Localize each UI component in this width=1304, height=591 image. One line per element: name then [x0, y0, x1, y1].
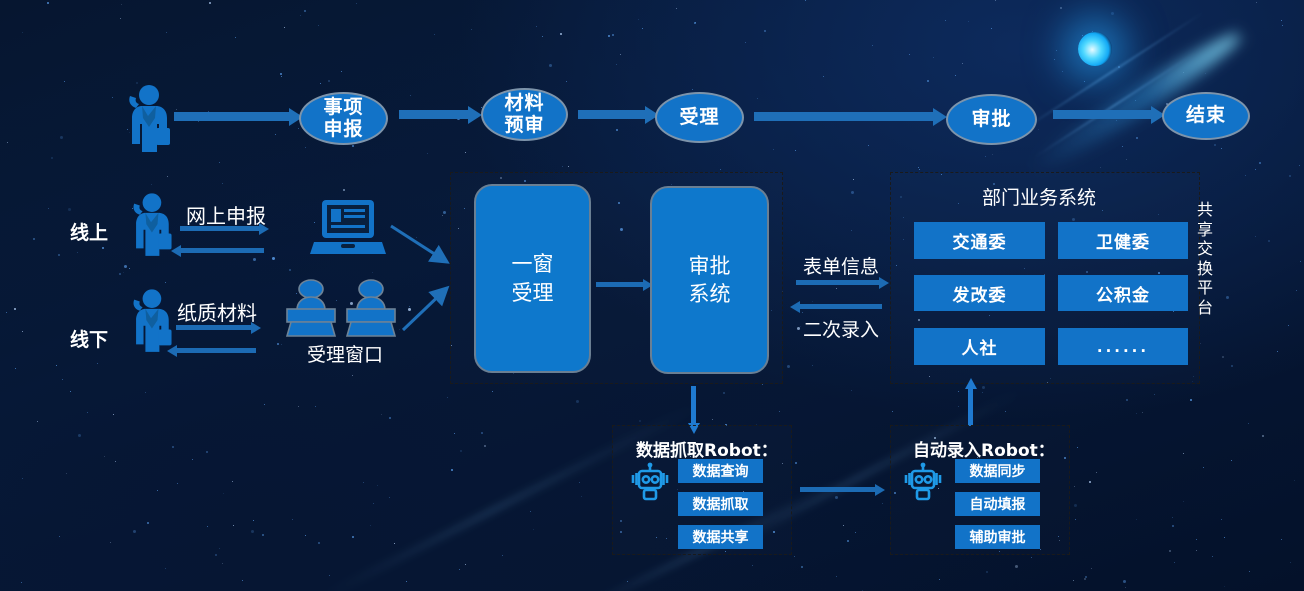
exchange-forward-arrow [796, 280, 880, 285]
exchange-backward-arrow [799, 304, 882, 309]
robot-task-assist-approval[interactable]: 辅助审批 [955, 525, 1040, 549]
shared-exchange-platform-label: 共 享 交 换 平 台 [1195, 200, 1215, 317]
robot-task-label: 自动填报 [970, 494, 1026, 514]
data-capture-robot-title: 数据抓取Robot： [636, 436, 778, 461]
department-chip-fagaiwei[interactable]: 发改委 [914, 275, 1045, 311]
department-chip-label: 公积金 [1096, 281, 1150, 306]
robot-task-auto-fill[interactable]: 自动填报 [955, 492, 1040, 516]
robot-link-arrow [800, 487, 876, 492]
department-chip-more[interactable]: ...... [1058, 328, 1188, 365]
auto-entry-robot-title: 自动录入Robot： [913, 436, 1055, 461]
robot-task-data-capture[interactable]: 数据抓取 [678, 492, 763, 516]
robot-icon [627, 462, 673, 508]
department-chip-label: 发改委 [953, 281, 1007, 306]
department-chip-label: 交通委 [953, 228, 1007, 253]
department-chip-rensh[interactable]: 人社 [914, 328, 1045, 365]
department-systems-title: 部门业务系统 [982, 183, 1096, 210]
department-chip-label: 卫健委 [1096, 228, 1150, 253]
exchange-forward-label: 表单信息 [803, 252, 879, 279]
robot-task-data-share[interactable]: 数据共享 [678, 525, 763, 549]
robot-task-label: 数据查询 [693, 461, 749, 481]
robot-task-label: 数据同步 [970, 461, 1026, 481]
department-chip-label: ...... [1097, 338, 1149, 356]
robot-task-data-query[interactable]: 数据查询 [678, 459, 763, 483]
entry-robot-to-departments-arrow [968, 388, 973, 426]
department-chip-gongjijin[interactable]: 公积金 [1058, 275, 1188, 311]
exchange-backward-label: 二次录入 [803, 315, 879, 342]
department-chip-weijianwei[interactable]: 卫健委 [1058, 222, 1188, 259]
robot-task-label: 辅助审批 [970, 527, 1026, 547]
robot-task-label: 数据抓取 [693, 494, 749, 514]
robot-task-label: 数据共享 [693, 527, 749, 547]
department-chip-label: 人社 [962, 334, 998, 359]
department-chip-jiaotongwei[interactable]: 交通委 [914, 222, 1045, 259]
robot-task-data-sync[interactable]: 数据同步 [955, 459, 1040, 483]
robot-icon [900, 462, 946, 508]
approval-to-capture-robot-arrow [691, 386, 696, 424]
diagram-canvas: 事项 申报 材料 预审 受理 审批 结束 线上 [0, 0, 1304, 591]
